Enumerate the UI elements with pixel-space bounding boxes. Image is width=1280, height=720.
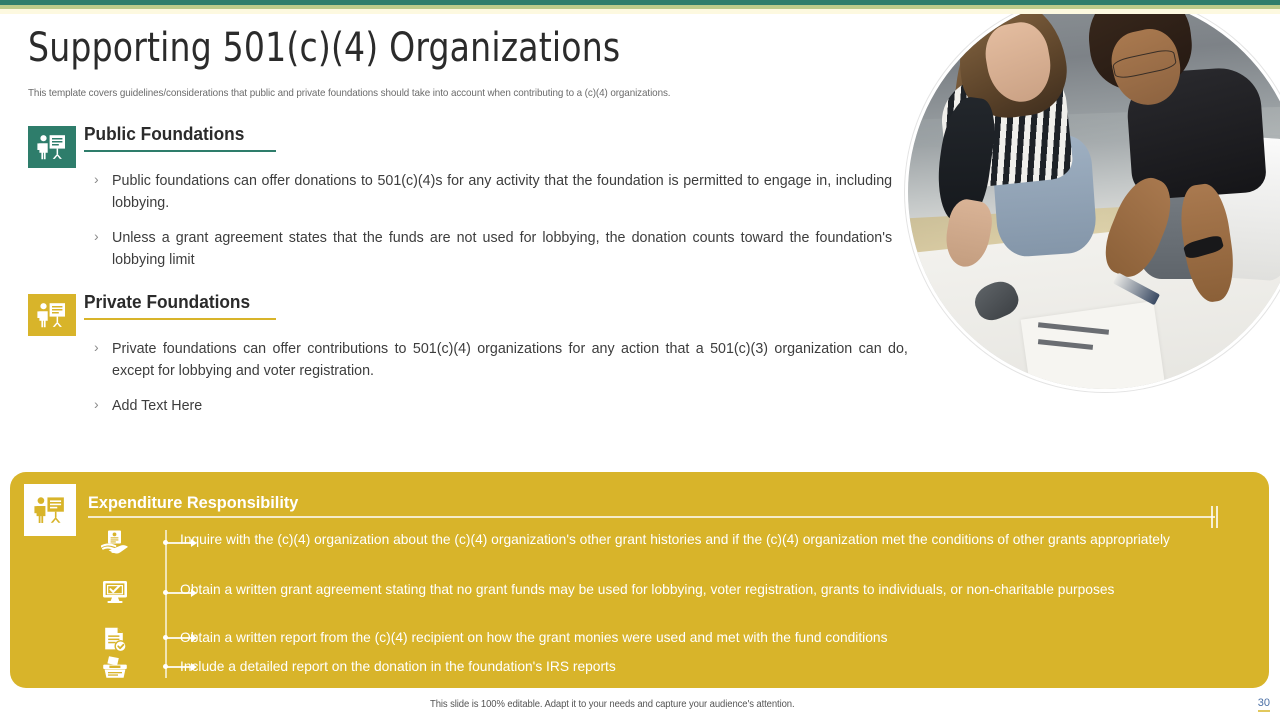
bullet-marker-icon: › [94, 395, 112, 414]
section-title: Private Foundations [84, 292, 268, 313]
section-header: Public Foundations [84, 124, 276, 152]
list-item-text: Include a detailed report on the donatio… [180, 657, 1204, 676]
list-item: › Add Text Here [94, 395, 920, 417]
list-item-text: Inquire with the (c)(4) organization abo… [180, 530, 1204, 549]
hero-photo-image [908, 0, 1280, 389]
list-item: › Public foundations can offer donations… [94, 170, 904, 214]
list-item-text: Obtain a written report from the (c)(4) … [180, 628, 1204, 647]
list-item-text: Obtain a written grant agreement stating… [180, 580, 1204, 599]
ballot-box-icon [95, 655, 135, 679]
presenter-board-icon [28, 294, 76, 336]
section-bullet-list: › Public foundations can offer donations… [94, 170, 904, 284]
bullet-text: Unless a grant agreement states that the… [112, 227, 892, 271]
bullet-text: Add Text Here [112, 395, 202, 417]
top-bar-cream [0, 9, 1280, 14]
timeline-spine [165, 530, 167, 678]
page-subtitle: This template covers guidelines/consider… [28, 86, 670, 100]
bullet-marker-icon: › [94, 338, 112, 357]
list-item: › Unless a grant agreement states that t… [94, 227, 904, 271]
hand-holding-document-icon [95, 530, 135, 556]
bullet-marker-icon: › [94, 227, 112, 246]
presenter-board-icon [24, 484, 76, 536]
section-bullet-list: › Private foundations can offer contribu… [94, 338, 920, 430]
monitor-check-icon [95, 580, 135, 604]
section-title: Public Foundations [84, 124, 268, 145]
page-number: 30 [1258, 697, 1270, 712]
expenditure-responsibility-panel: Expenditure Responsibility [10, 472, 1269, 688]
section-underline [84, 150, 276, 152]
bullet-marker-icon: › [94, 170, 112, 189]
panel-underline [88, 516, 1215, 518]
page-number-value: 30 [1258, 697, 1270, 712]
bullet-text: Public foundations can offer donations t… [112, 170, 892, 214]
footer-note: This slide is 100% editable. Adapt it to… [430, 699, 795, 710]
presenter-board-icon [28, 126, 76, 168]
list-item: › Private foundations can offer contribu… [94, 338, 920, 382]
panel-end-ticks-icon [1211, 506, 1223, 528]
document-check-icon [95, 627, 135, 653]
hero-photo [905, 0, 1280, 392]
bullet-text: Private foundations can offer contributi… [112, 338, 908, 382]
panel-title: Expenditure Responsibility [88, 493, 298, 513]
section-header: Private Foundations [84, 292, 276, 320]
section-underline [84, 318, 276, 320]
slide: Supporting 501(c)(4) Organizations This … [0, 0, 1280, 720]
top-accent-bars [0, 0, 1280, 14]
page-title: Supporting 501(c)(4) Organizations [28, 24, 620, 72]
